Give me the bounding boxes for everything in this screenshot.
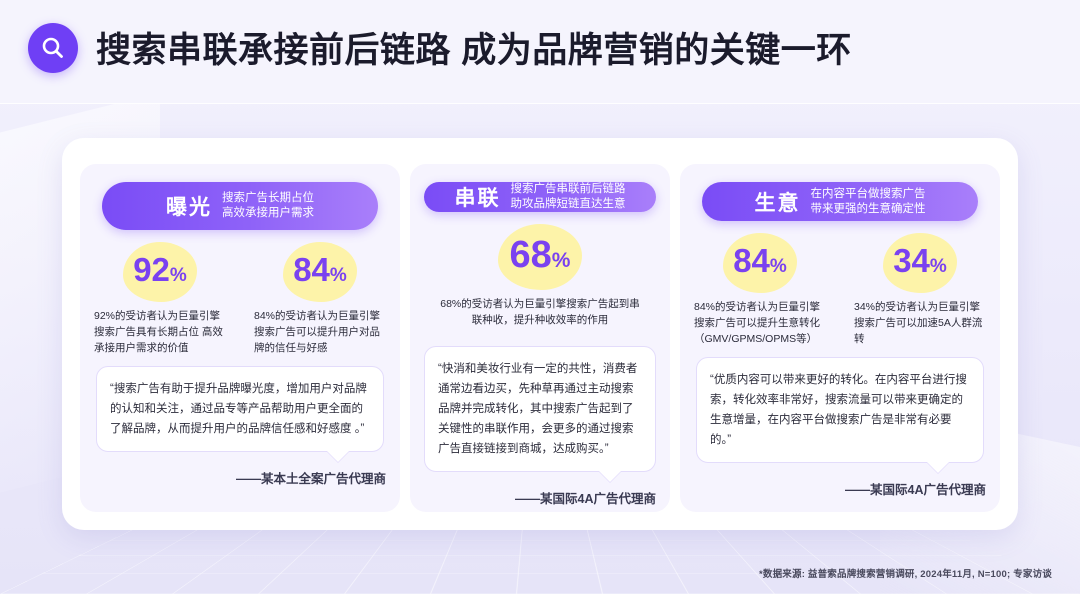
- column-business-stats: 84% 84%的受访者认为巨量引擎搜索广告可以提升生意转化（GMV/GPMS/O…: [694, 239, 986, 347]
- stat-description: 34%的受访者认为巨量引擎搜索广告可以加速5A人群流转: [854, 299, 986, 347]
- quote-source: ——某国际4A广告代理商: [845, 479, 986, 498]
- stat-value: 92%: [133, 248, 187, 298]
- column-exposure-pill: 曝光 搜索广告长期占位 高效承接用户需求: [102, 182, 378, 230]
- column-business-pill: 生意 在内容平台做搜索广告 带来更强的生意确定性: [702, 182, 978, 221]
- stat-unit: %: [170, 265, 187, 286]
- pill-subtitle-line2: 助攻品牌短链直达生意: [511, 197, 626, 212]
- column-linkage-pill: 串联 搜索广告串联前后链路 助攻品牌短链直达生意: [424, 182, 656, 212]
- stat-value: 68%: [510, 230, 571, 286]
- pill-title: 生意: [755, 187, 801, 217]
- stat-description: 84%的受访者认为巨量引擎搜索广告可以提升生意转化（GMV/GPMS/OPMS等…: [694, 299, 826, 347]
- pill-subtitle-line2: 高效承接用户需求: [222, 206, 314, 221]
- stat-value: 84%: [293, 248, 347, 298]
- pill-subtitle-line1: 搜索广告串联前后链路: [511, 182, 626, 197]
- stat-item: 68% 68%的受访者认为巨量引擎搜索广告起到串联种收，提升种收效率的作用: [440, 230, 640, 328]
- stat-number: 92: [133, 251, 170, 288]
- footnote: *数据来源: 益普索品牌搜索营销调研, 2024年11月, N=100; 专家访…: [759, 566, 1052, 580]
- quote-source: ——某本土全案广告代理商: [236, 468, 386, 487]
- pill-subtitle-line1: 搜索广告长期占位: [222, 191, 314, 206]
- stat-number: 84: [733, 242, 770, 279]
- column-linkage: 串联 搜索广告串联前后链路 助攻品牌短链直达生意 68% 68%的受访者认为巨量…: [410, 164, 670, 512]
- quote-bubble: “快消和美妆行业有一定的共性，消费者通常边看边买，先种草再通过主动搜索品牌并完成…: [424, 346, 656, 472]
- stat-unit: %: [330, 265, 347, 286]
- stat-number: 68: [510, 234, 552, 276]
- stat-description: 92%的受访者认为巨量引擎搜索广告具有长期占位 高效承接用户需求的价值: [94, 308, 226, 356]
- column-exposure-stats: 92% 92%的受访者认为巨量引擎搜索广告具有长期占位 高效承接用户需求的价值 …: [94, 248, 386, 356]
- pill-title: 串联: [455, 182, 501, 212]
- stat-unit: %: [552, 249, 571, 272]
- stat-item: 84% 84%的受访者认为巨量引擎搜索广告可以提升生意转化（GMV/GPMS/O…: [694, 239, 826, 347]
- stat-number: 34: [893, 242, 930, 279]
- stat-unit: %: [770, 256, 787, 277]
- pill-title: 曝光: [166, 191, 212, 221]
- page-title: 搜索串联承接前后链路 成为品牌营销的关键一环: [96, 22, 852, 73]
- pill-subtitle-line1: 在内容平台做搜索广告: [811, 187, 926, 202]
- pill-subtitle-line2: 带来更强的生意确定性: [811, 202, 926, 217]
- page-header: 搜索串联承接前后链路 成为品牌营销的关键一环: [28, 22, 852, 73]
- content-card: 曝光 搜索广告长期占位 高效承接用户需求 92% 92%的受访者认为巨量引擎搜索…: [62, 138, 1018, 530]
- column-linkage-stats: 68% 68%的受访者认为巨量引擎搜索广告起到串联种收，提升种收效率的作用: [424, 230, 656, 328]
- stat-value: 84%: [733, 239, 787, 289]
- stat-item: 84% 84%的受访者认为巨量引擎搜索广告可以提升用户对品牌的信任与好感: [254, 248, 386, 356]
- stat-value: 34%: [893, 239, 947, 289]
- column-business: 生意 在内容平台做搜索广告 带来更强的生意确定性 84% 84%的受访者认为巨量…: [680, 164, 1000, 512]
- stat-item: 92% 92%的受访者认为巨量引擎搜索广告具有长期占位 高效承接用户需求的价值: [94, 248, 226, 356]
- stat-number: 84: [293, 251, 330, 288]
- quote-bubble: “搜索广告有助于提升品牌曝光度，增加用户对品牌的认知和关注，通过品专等产品帮助用…: [96, 366, 384, 452]
- column-exposure: 曝光 搜索广告长期占位 高效承接用户需求 92% 92%的受访者认为巨量引擎搜索…: [80, 164, 400, 512]
- search-icon: [28, 23, 78, 73]
- stat-description: 84%的受访者认为巨量引擎搜索广告可以提升用户对品牌的信任与好感: [254, 308, 386, 356]
- stat-item: 34% 34%的受访者认为巨量引擎搜索广告可以加速5A人群流转: [854, 239, 986, 347]
- quote-source: ——某国际4A广告代理商: [515, 488, 656, 507]
- stat-description: 68%的受访者认为巨量引擎搜索广告起到串联种收，提升种收效率的作用: [440, 296, 640, 328]
- quote-bubble: “优质内容可以带来更好的转化。在内容平台进行搜索，转化效率非常好，搜索流量可以带…: [696, 357, 984, 463]
- stat-unit: %: [930, 256, 947, 277]
